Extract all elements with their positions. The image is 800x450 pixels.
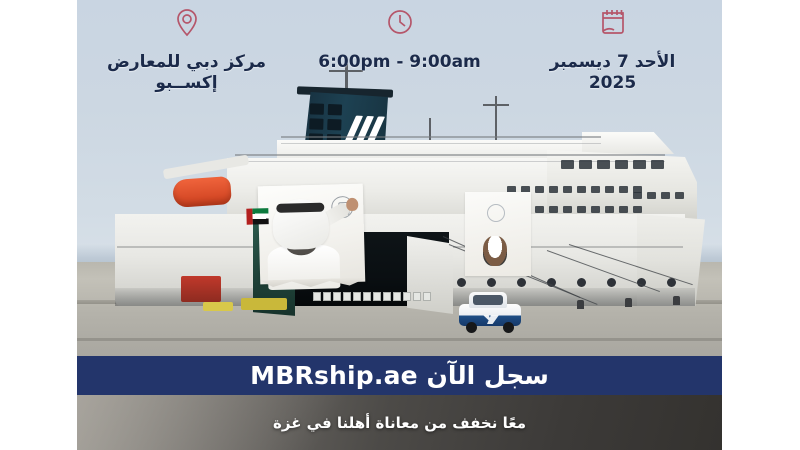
bow-window-row	[633, 192, 684, 199]
suv-wheel-rear	[503, 322, 514, 333]
hull-fender-row	[457, 278, 697, 287]
suv-wheel-front	[466, 322, 477, 333]
info-date-line2: 2025	[550, 73, 676, 94]
info-block-location: مركز دبي للمعارض إكســبو	[99, 6, 274, 102]
poster-canvas: الأحد 7 ديسمبر 2025 6:00pm - 9:00am	[77, 0, 722, 450]
event-info-row: الأحد 7 ديسمبر 2025 6:00pm - 9:00am	[77, 6, 722, 102]
side-banner-portrait	[483, 236, 507, 266]
bow-mast-crossbar	[483, 104, 509, 106]
upper-deck-rail	[281, 136, 601, 144]
dock-equipment-yellow	[203, 302, 233, 311]
info-block-date: الأحد 7 ديسمبر 2025	[525, 6, 700, 102]
stern-ramp-plate	[407, 236, 453, 314]
info-date-text: الأحد 7 ديسمبر 2025	[550, 52, 676, 95]
info-block-time: 6:00pm - 9:00am	[312, 6, 487, 102]
portrait-hand	[346, 198, 358, 211]
letterbox-right	[722, 0, 800, 450]
registration-cta-bar[interactable]: سجل الآن MBRship.ae	[77, 356, 722, 395]
tagline-text: معًا نخفف من معاناة أهلنا في غزة	[273, 414, 526, 432]
dock-bollard	[673, 296, 680, 305]
portrait-banner-stern	[258, 184, 366, 285]
info-time-text: 6:00pm - 9:00am	[318, 52, 481, 73]
info-location-text: مركز دبي للمعارض إكســبو	[107, 52, 266, 95]
letterbox-left	[0, 0, 77, 450]
bridge-window-row	[561, 160, 664, 169]
orange-lifeboat	[172, 176, 232, 208]
clock-icon	[385, 6, 415, 38]
location-pin-icon	[172, 6, 202, 38]
suv-windshield	[473, 295, 503, 305]
deck-red-container	[181, 276, 221, 302]
tagline-container: معًا نخفف من معاناة أهلنا في غزة	[77, 395, 722, 450]
info-date-line1: الأحد 7 ديسمبر	[550, 52, 676, 73]
portrait-banner-side	[465, 192, 531, 276]
cta-label[interactable]: سجل الآن MBRship.ae	[250, 361, 549, 390]
uae-flag	[246, 208, 268, 225]
dock-equipment-yellow	[241, 298, 287, 310]
dock-bollard	[625, 298, 632, 307]
info-location-line2: إكســبو	[107, 73, 266, 94]
info-time-line1: 6:00pm - 9:00am	[318, 52, 481, 73]
dock-bollard	[577, 300, 584, 309]
poster-frame: الأحد 7 ديسمبر 2025 6:00pm - 9:00am	[0, 0, 800, 450]
dock-container-row	[313, 292, 431, 301]
info-location-line1: مركز دبي للمعارض	[107, 52, 266, 73]
police-suv	[459, 292, 521, 332]
portrait-agal	[276, 203, 324, 213]
calendar-icon	[598, 6, 628, 38]
side-banner-crest	[487, 204, 505, 222]
